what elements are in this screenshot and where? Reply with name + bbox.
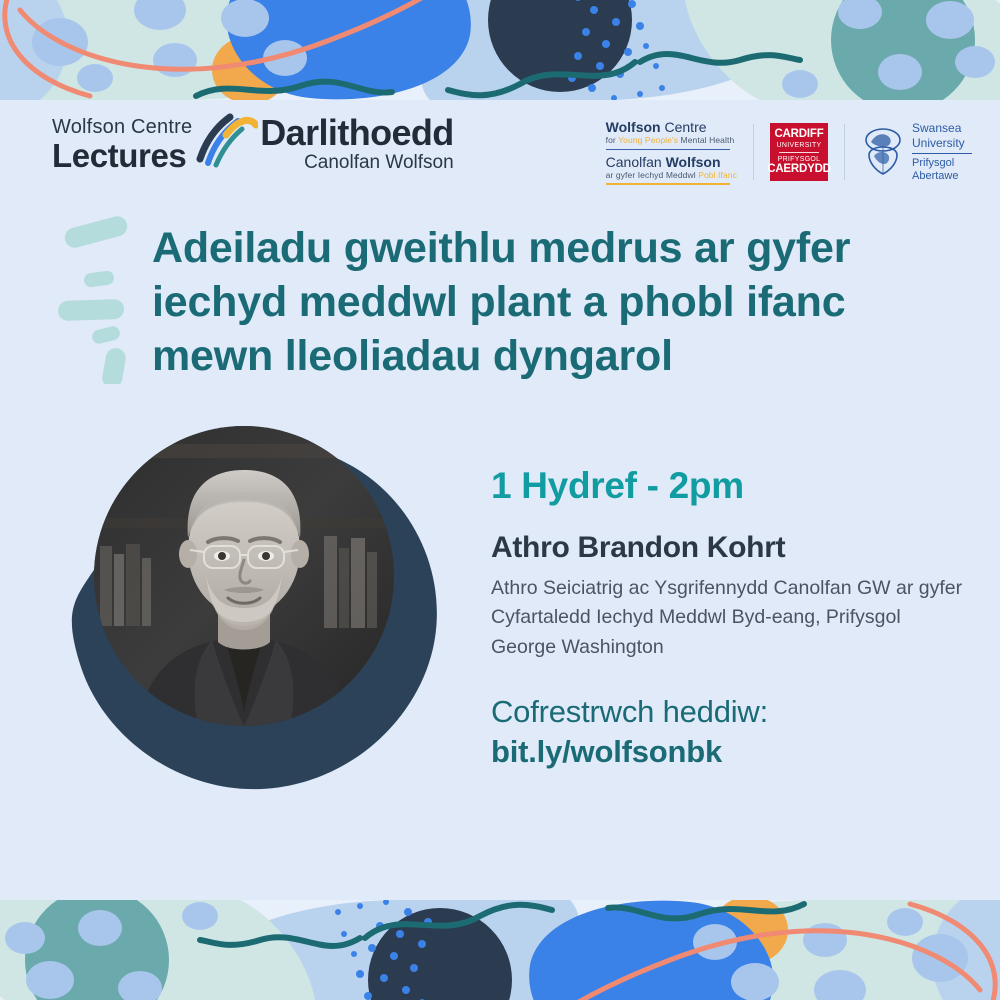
dash-3 [58,299,125,321]
speaker-photo [94,426,394,726]
wc-en-strapline-highlight: Young People's [618,135,678,145]
swansea-line3: Prifysgol [912,157,972,170]
brand-lockup: Wolfson Centre Lectures Darlithoedd Cano… [52,113,454,174]
brand-cy-line2: Canolfan Wolfson [304,153,454,174]
wc-divider-blue [606,149,730,151]
decorative-band-bottom [0,895,1000,1000]
wc-en-name: Wolfson Centre [606,119,737,135]
wolfson-centre-logo: Wolfson Centre for Young People's Mental… [606,119,753,185]
cardiff-line4: CAERDYDD [767,164,831,176]
cardiff-line1: CARDIFF [774,129,823,141]
register-link[interactable]: bit.ly/wolfsonbk [491,733,971,772]
swansea-line4: Abertawe [912,170,972,183]
lecture-title: Adeiladu gweithlu medrus ar gyfer iechyd… [152,222,922,383]
poster-header: Wolfson Centre Lectures Darlithoedd Cano… [0,105,1000,200]
lecture-details: 1 Hydref - 2pm Athro Brandon Kohrt Athro… [491,466,971,772]
wc-en-name-bold: Wolfson [606,119,661,135]
wc-cy-name: Canolfan Wolfson [606,154,737,170]
wc-cy-strapline: ar gyfer Iechyd Meddwl Pobl Ifanc [606,170,737,181]
swansea-line1: Swansea [912,121,972,135]
speaker-portrait [60,412,460,812]
dash-1 [63,214,130,250]
brand-english: Wolfson Centre Lectures [52,113,192,172]
dash-2 [83,270,115,288]
swansea-line2: University [912,136,972,150]
wc-cy-name-bold: Wolfson [666,154,721,170]
wc-cy-strapline-pre: ar gyfer Iechyd Meddwl [606,170,699,180]
swansea-dragon-crest-icon [861,126,905,178]
cardiff-divider [779,152,819,153]
register-label: Cofrestrwch heddiw: [491,693,971,732]
brand-en-line1: Wolfson Centre [52,117,192,138]
wc-en-strapline: for Young People's Mental Health [606,135,737,146]
wc-en-strapline-pre: for [606,135,619,145]
wolfson-swoosh-icon [196,113,258,173]
cardiff-university-logo: CARDIFF UNIVERSITY PRIFYSGOL CAERDYDD [770,123,828,181]
lecture-date-time: 1 Hydref - 2pm [491,466,971,507]
dash-5 [101,347,128,384]
cardiff-line3: PRIFYSGOL [778,156,821,163]
title-block: Adeiladu gweithlu medrus ar gyfer iechyd… [152,222,922,383]
dash-4 [91,325,122,345]
wc-divider-gold [606,183,730,185]
swansea-university-logo: Swansea University Prifysgol Abertawe [861,121,972,182]
partner-divider-2 [844,124,845,180]
partner-logos: Wolfson Centre for Young People's Mental… [606,117,972,187]
swansea-wordmark: Swansea University Prifysgol Abertawe [912,121,972,182]
partner-divider-1 [753,124,754,180]
speaker-role: Athro Seiciatrig ac Ysgrifennydd Canolfa… [491,574,971,663]
lecture-poster: Wolfson Centre Lectures Darlithoedd Cano… [0,0,1000,1000]
cardiff-line2: UNIVERSITY [776,142,821,149]
wc-cy-name-light: Canolfan [606,154,666,170]
wc-en-name-light: Centre [665,119,707,135]
decorative-band-top [0,0,1000,105]
speaker-name: Athro Brandon Kohrt [491,531,971,564]
brand-cy-line1: Darlithoedd [260,115,453,151]
brand-en-line2: Lectures [52,139,186,172]
teal-dash-decoration [48,214,168,384]
wc-cy-strapline-highlight: Pobl Ifanc [698,170,737,180]
wc-en-strapline-post: Mental Health [678,135,734,145]
swansea-divider [912,153,972,154]
brand-welsh: Darlithoedd Canolfan Wolfson [260,113,453,174]
